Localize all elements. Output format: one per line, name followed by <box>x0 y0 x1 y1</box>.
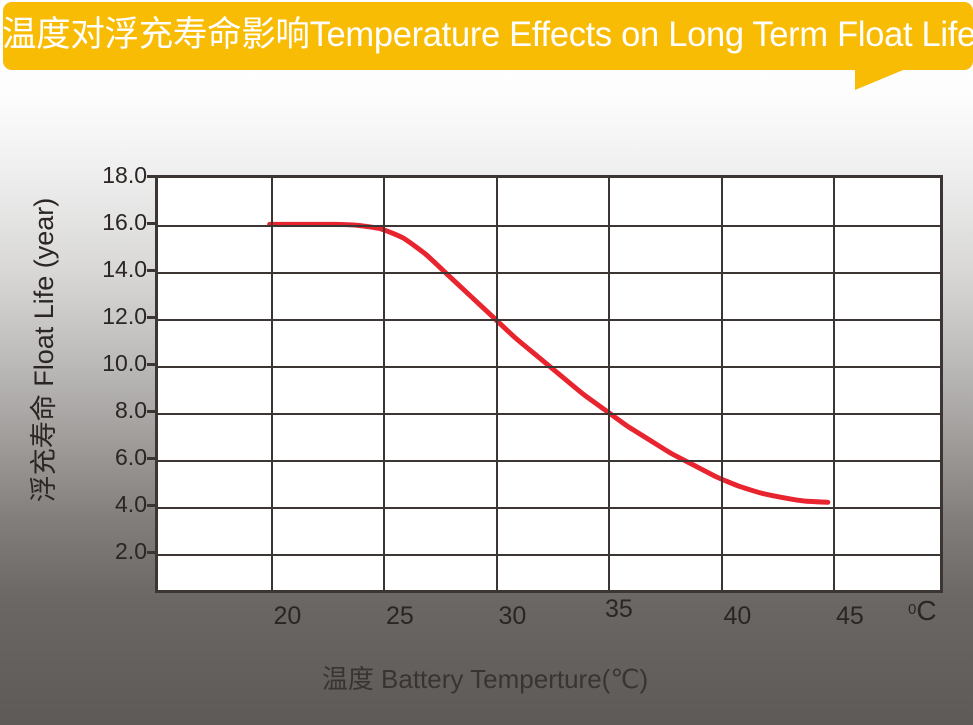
y-tick-label: 10.0 <box>85 352 147 375</box>
x-gridline <box>721 178 723 590</box>
y-tick-mark <box>147 269 156 272</box>
y-tick-label: 6.0 <box>85 446 147 469</box>
y-axis-tick-labels: 18.016.014.012.010.08.06.04.02.0 <box>85 0 147 725</box>
y-gridline <box>158 225 940 227</box>
y-tick-label: 14.0 <box>85 258 147 281</box>
plot-area <box>155 175 943 593</box>
x-tick-label: 45 <box>836 604 864 629</box>
y-axis-title: 浮充寿命 Float Life (year) <box>29 130 59 570</box>
x-tick-label: 40 <box>724 604 752 629</box>
y-gridline <box>158 272 940 274</box>
x-axis-unit-marker: 0C <box>908 597 937 625</box>
x-gridline <box>383 178 385 590</box>
y-tick-mark <box>147 504 156 507</box>
y-tick-mark <box>147 457 156 460</box>
y-tick-mark <box>147 316 156 319</box>
x-gridline <box>271 178 273 590</box>
y-tick-mark <box>147 222 156 225</box>
y-tick-label: 8.0 <box>85 399 147 422</box>
y-gridline <box>158 554 940 556</box>
y-tick-label: 2.0 <box>85 540 147 563</box>
x-gridline <box>496 178 498 590</box>
x-gridline <box>608 178 610 590</box>
x-tick-label: 25 <box>386 604 414 629</box>
y-gridline <box>158 366 940 368</box>
y-tick-mark <box>147 363 156 366</box>
y-gridline <box>158 507 940 509</box>
y-gridline <box>158 413 940 415</box>
y-tick-label: 4.0 <box>85 493 147 516</box>
x-axis-title: 温度 Battery Temperture(℃) <box>155 664 815 694</box>
y-tick-label: 16.0 <box>85 211 147 234</box>
y-tick-mark <box>147 175 156 178</box>
y-tick-mark <box>147 551 156 554</box>
y-tick-label: 12.0 <box>85 305 147 328</box>
y-gridline <box>158 319 940 321</box>
y-tick-mark <box>147 410 156 413</box>
x-gridline <box>833 178 835 590</box>
x-tick-label: 20 <box>274 604 302 629</box>
y-tick-label: 18.0 <box>85 164 147 187</box>
x-tick-label: 30 <box>499 604 527 629</box>
chart-page: 温度对浮充寿命影响Temperature Effects on Long Ter… <box>0 0 973 725</box>
chart-figure: 18.016.014.012.010.08.06.04.02.0 浮充寿命 Fl… <box>0 0 973 725</box>
float-life-curve <box>158 178 940 590</box>
celsius-letter: C <box>916 595 936 626</box>
x-tick-label: 35 <box>605 597 633 622</box>
y-gridline <box>158 460 940 462</box>
